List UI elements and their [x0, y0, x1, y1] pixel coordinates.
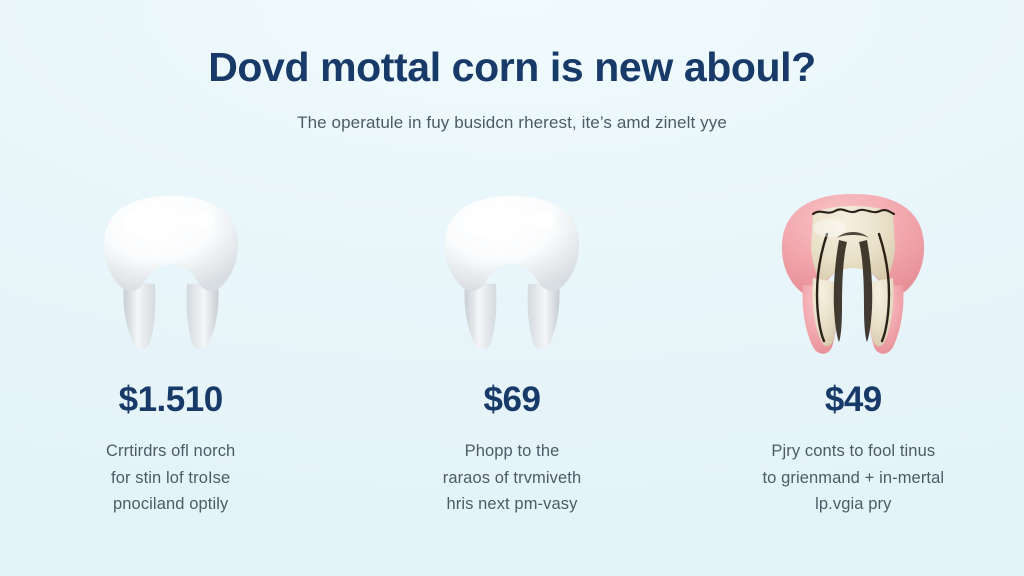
- price-value: $1.510: [119, 382, 223, 417]
- page-title: Dovd mottal corn is new aboul?: [0, 44, 1024, 91]
- price-value: $49: [825, 382, 882, 417]
- comparison-column: $69 Phopp to the raraos of trvmiveth hri…: [352, 190, 672, 518]
- description-line: Crrtirdrs ofl norch: [106, 438, 235, 465]
- description-line: lp.vgia pry: [762, 491, 944, 518]
- description-line: for stin lof troIse: [106, 465, 235, 492]
- description-line: pnociland optily: [106, 491, 235, 518]
- price-value: $69: [484, 382, 541, 417]
- header: Dovd mottal corn is new aboul? The opera…: [0, 44, 1024, 134]
- comparison-columns: $1.510 Crrtirdrs ofl norch for stin lof …: [0, 190, 1024, 518]
- column-description: Phopp to the raraos of trvmiveth hris ne…: [443, 438, 582, 518]
- poster-canvas: Dovd mottal corn is new aboul? The opera…: [0, 0, 1024, 576]
- comparison-column: $1.510 Crrtirdrs ofl norch for stin lof …: [11, 190, 331, 518]
- description-line: to grienmand + in-mertal: [762, 465, 944, 492]
- description-line: raraos of trvmiveth: [443, 465, 582, 492]
- page-subtitle: The operatule in fuy busidcn rherest, it…: [0, 112, 1024, 134]
- description-line: hris next pm-vasy: [443, 491, 582, 518]
- description-line: Phopp to the: [443, 438, 582, 465]
- column-description: Pjry conts to fool tinus to grienmand + …: [762, 438, 944, 518]
- tooth-cross-section-icon: [768, 190, 938, 360]
- column-description: Crrtirdrs ofl norch for stin lof troIse …: [106, 438, 235, 518]
- tooth-white-icon: [427, 190, 597, 360]
- description-line: Pjry conts to fool tinus: [762, 438, 944, 465]
- tooth-white-icon: [86, 190, 256, 360]
- comparison-column: $49 Pjry conts to fool tinus to grienman…: [693, 190, 1013, 518]
